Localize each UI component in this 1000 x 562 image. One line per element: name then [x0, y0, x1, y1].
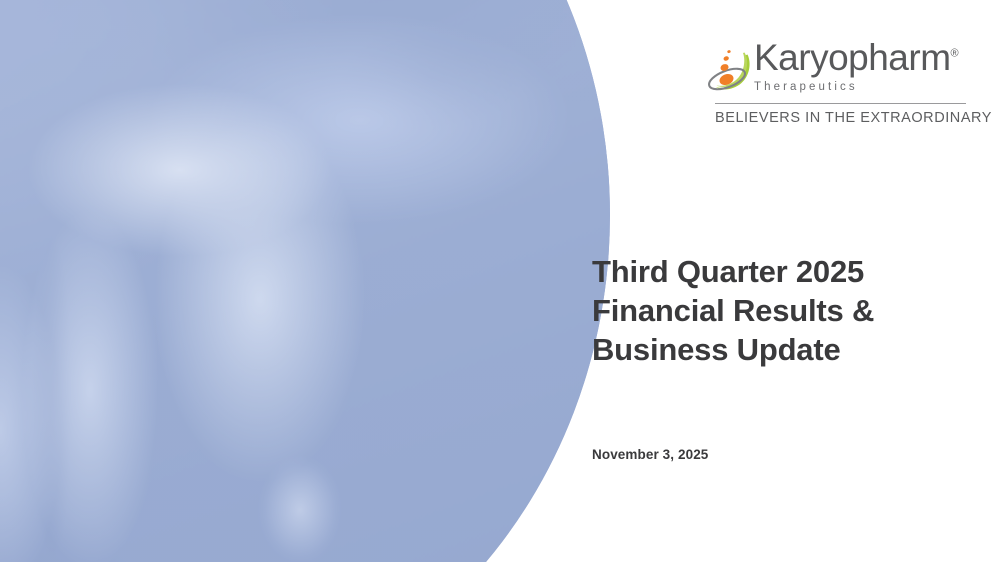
logo-wordmark-label: Karyopharm — [754, 37, 951, 78]
logo-primary-row: Karyopharm® Therapeutics — [706, 44, 968, 96]
logo-divider — [715, 103, 966, 104]
logo-wordmark-group: Karyopharm® Therapeutics — [754, 35, 968, 96]
page-title: Third Quarter 2025 Financial Results & B… — [592, 252, 982, 369]
page-title-line-2: Financial Results & — [592, 291, 982, 330]
karyopharm-swoosh-mark-icon — [706, 46, 752, 96]
logo-wordmark-text: Karyopharm® — [754, 37, 959, 78]
page-title-line-3: Business Update — [592, 330, 982, 369]
presentation-date: November 3, 2025 — [592, 447, 708, 462]
title-slide: Karyopharm® Therapeutics BELIEVERS IN TH… — [0, 0, 1000, 562]
logo-subword-label: Therapeutics — [754, 81, 858, 93]
logo-tagline: BELIEVERS IN THE EXTRAORDINARY — [715, 110, 966, 126]
circle-photo-mask — [0, 0, 610, 562]
page-title-line-1: Third Quarter 2025 — [592, 252, 982, 291]
hero-photo-panel — [0, 0, 620, 562]
blue-duotone-overlay — [0, 0, 610, 562]
registered-trademark-icon: ® — [951, 48, 959, 60]
company-logo: Karyopharm® Therapeutics BELIEVERS IN TH… — [706, 44, 968, 126]
